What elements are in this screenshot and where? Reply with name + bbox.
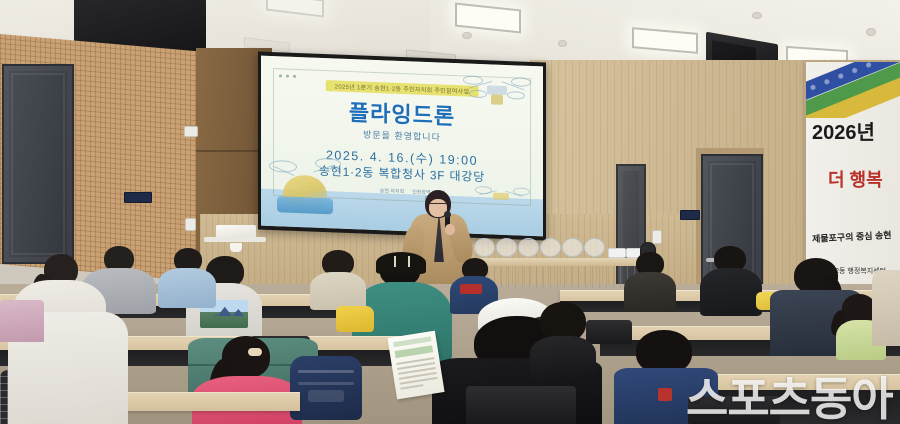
ceiling-sprinkler xyxy=(752,12,762,19)
audience-member xyxy=(530,302,596,372)
ceiling-sprinkler xyxy=(462,32,472,39)
shirt-graphic xyxy=(460,284,482,294)
audience-member xyxy=(872,270,900,342)
banner-line-1: 2026년 xyxy=(812,116,875,145)
drone-graphic-topright xyxy=(463,71,531,116)
hair-tie xyxy=(248,348,262,356)
door-left[interactable] xyxy=(2,64,74,264)
cap-logo xyxy=(394,256,410,267)
audience-member xyxy=(0,300,44,340)
photo-scene: 2025년 1분기 송현1·2동 주민자치회 주민참여사업 플라잉드론 방문을 … xyxy=(0,0,900,424)
drone-graphic-bottomright xyxy=(475,182,529,214)
door-right-sign xyxy=(680,210,700,220)
yellow-bag xyxy=(336,306,374,332)
ceiling-sprinkler xyxy=(866,28,876,36)
slide-logo-left: 송현 자치회 xyxy=(377,188,407,195)
drone-graphic-large xyxy=(267,152,345,217)
projection-screen: 2025년 1분기 송현1·2동 주민자치회 주민참여사업 플라잉드론 방문을 … xyxy=(261,56,543,237)
chair[interactable] xyxy=(688,396,780,424)
ceiling-sprinkler xyxy=(558,40,567,47)
handout-paper xyxy=(387,331,444,400)
banner-line-2: 더 행복 xyxy=(828,166,883,192)
event-banner: 2026년 더 행복 제물포구의 중심 송현 송현1·2동 행정복지센터 xyxy=(806,62,900,290)
backpack xyxy=(290,356,362,420)
audience-member xyxy=(158,248,216,304)
jacket-logo xyxy=(658,388,672,401)
microphone-head xyxy=(444,211,451,218)
chair[interactable] xyxy=(466,386,576,424)
audience-member xyxy=(700,246,762,312)
wall-sensor xyxy=(184,126,198,137)
banner-line-3: 제물포구의 중심 송현 xyxy=(812,228,892,245)
door-left-sign xyxy=(124,192,152,203)
banner-ribbon-graphic xyxy=(806,62,900,118)
presenter-hand xyxy=(445,224,455,235)
wall-outlet xyxy=(185,218,196,231)
glasses-icon xyxy=(429,203,447,208)
audience-member xyxy=(624,252,676,308)
audience-member xyxy=(310,250,366,306)
